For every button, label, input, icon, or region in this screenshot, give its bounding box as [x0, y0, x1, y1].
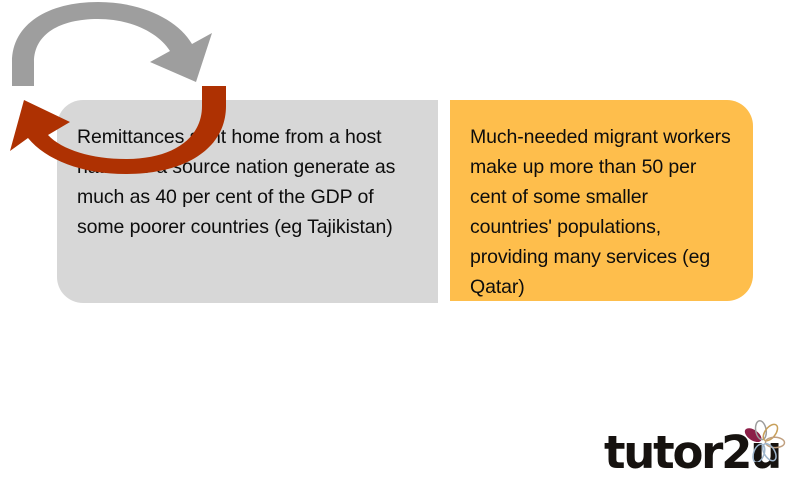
flower-petal-magenta — [742, 425, 764, 444]
text-box-left-label: Remittances sent home from a host nation… — [77, 122, 420, 242]
flower-icon-svg — [740, 420, 786, 462]
flower-petal-blue-2 — [751, 443, 767, 462]
flower-icon — [740, 420, 786, 462]
slide-canvas: Remittances sent home from a host nation… — [0, 0, 800, 494]
text-box-right-label: Much-needed migrant workers make up more… — [470, 122, 735, 302]
curved-arrow-right-icon — [0, 0, 232, 86]
curved-arrow-right-svg — [0, 0, 232, 86]
arrow-top-path — [12, 2, 212, 86]
flower-petal-tan — [765, 437, 784, 448]
text-box-right: Much-needed migrant workers make up more… — [450, 100, 753, 301]
text-box-left: Remittances sent home from a host nation… — [57, 100, 438, 303]
tutor2u-logo: tutor2u — [604, 420, 784, 480]
